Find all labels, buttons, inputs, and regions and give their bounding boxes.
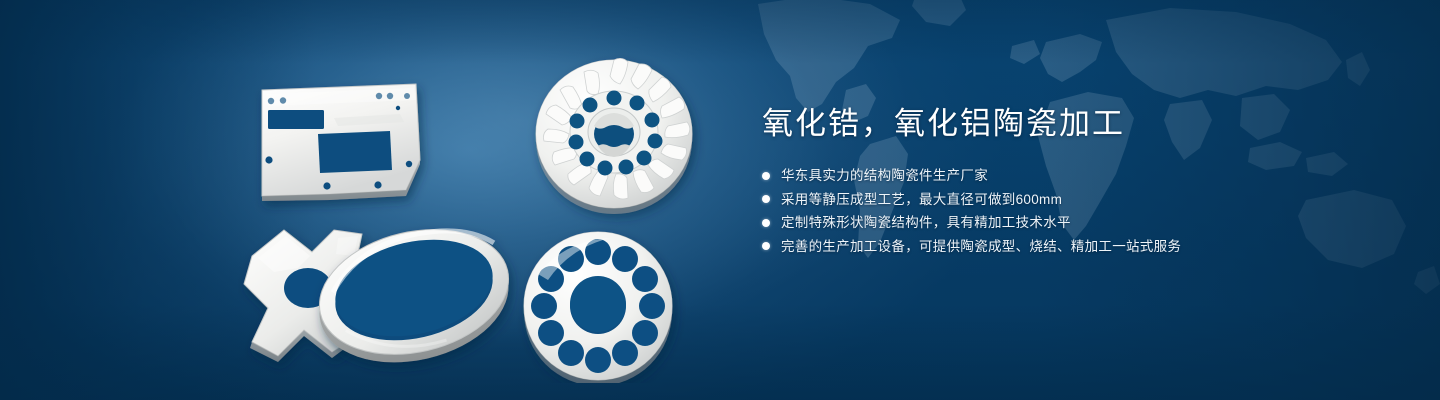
list-item: 华东具实力的结构陶瓷件生产厂家 [762, 164, 1322, 187]
feature-text: 华东具实力的结构陶瓷件生产厂家 [781, 164, 988, 187]
list-item: 采用等静压成型工艺，最大直径可做到600mm [762, 188, 1322, 211]
feature-text: 采用等静压成型工艺，最大直径可做到600mm [781, 188, 1062, 211]
bullet-dot-icon [762, 172, 770, 180]
page-title: 氧化锆，氧化铝陶瓷加工 [762, 104, 1322, 144]
bullet-dot-icon [762, 242, 770, 250]
ceramic-perforated-disc [524, 232, 672, 383]
hero-banner: 氧化锆，氧化铝陶瓷加工 华东具实力的结构陶瓷件生产厂家 采用等静压成型工艺，最大… [0, 0, 1440, 400]
ceramic-plate-with-cutouts [262, 84, 420, 201]
ceramic-impeller-rotor [536, 58, 692, 214]
feature-text: 完善的生产加工设备，可提供陶瓷成型、烧结、精加工一站式服务 [781, 235, 1181, 258]
product-photo-group [238, 38, 708, 383]
banner-copy: 氧化锆，氧化铝陶瓷加工 华东具实力的结构陶瓷件生产厂家 采用等静压成型工艺，最大… [762, 104, 1322, 258]
bullet-dot-icon [762, 195, 770, 203]
feature-list: 华东具实力的结构陶瓷件生产厂家 采用等静压成型工艺，最大直径可做到600mm 定… [762, 164, 1322, 258]
bullet-dot-icon [762, 219, 770, 227]
list-item: 定制特殊形状陶瓷结构件，具有精加工技术水平 [762, 211, 1322, 234]
list-item: 完善的生产加工设备，可提供陶瓷成型、烧结、精加工一站式服务 [762, 235, 1322, 258]
feature-text: 定制特殊形状陶瓷结构件，具有精加工技术水平 [781, 211, 1071, 234]
